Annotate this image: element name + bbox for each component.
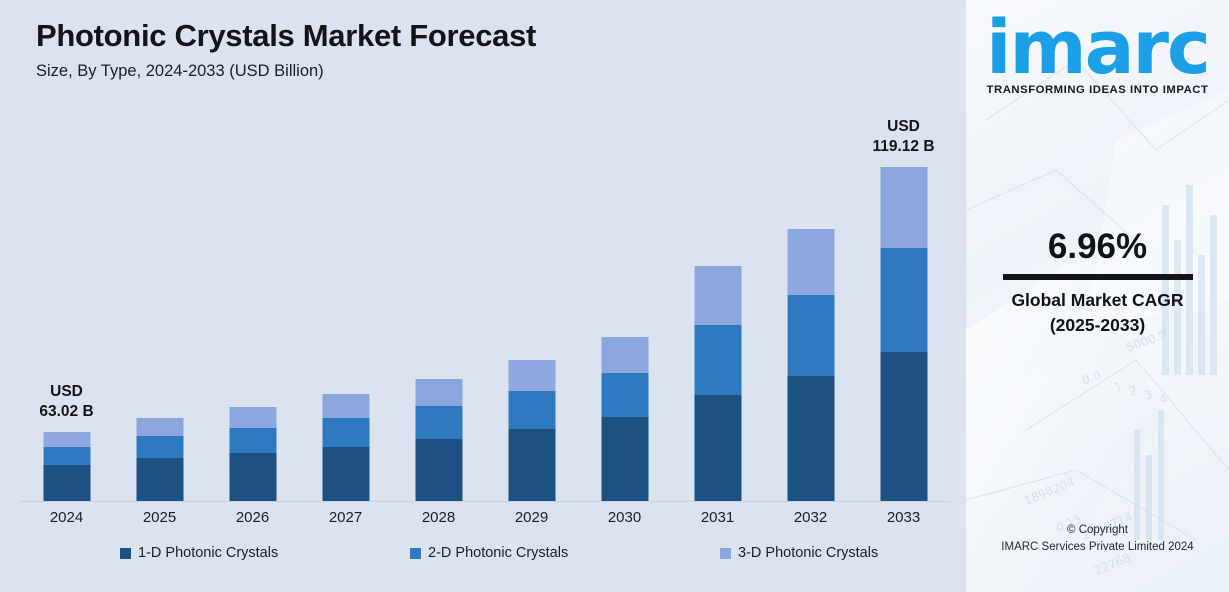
bar-segment-3d xyxy=(322,394,369,418)
bar-column xyxy=(113,120,206,501)
chart-panel: Photonic Crystals Market Forecast Size, … xyxy=(0,0,966,592)
imarc-wordmark: imarc xyxy=(986,14,1209,82)
bar-segment-2d xyxy=(43,447,90,465)
bar-value-label: USD63.02 B xyxy=(39,382,93,422)
bar-value-label-line1: USD xyxy=(872,117,934,137)
bar-value-label: USD119.12 B xyxy=(872,117,934,157)
bar-segment-2d xyxy=(601,373,648,417)
x-axis-tick-2031: 2031 xyxy=(671,509,764,526)
legend-label: 1-D Photonic Crystals xyxy=(138,545,278,561)
x-axis-tick-2025: 2025 xyxy=(113,509,206,526)
bar-segment-3d xyxy=(508,360,555,391)
copyright-block: © Copyright IMARC Services Private Limit… xyxy=(966,522,1229,557)
bar-segment-1d xyxy=(229,453,276,501)
bar-column xyxy=(578,120,671,501)
bar-column xyxy=(392,120,485,501)
x-axis-tick-2033: 2033 xyxy=(857,509,950,526)
bar-segment-3d xyxy=(601,337,648,373)
x-axis-tick-2024: 2024 xyxy=(20,509,113,526)
bar-segment-1d xyxy=(787,376,834,501)
cagr-caption-line1: Global Market CAGR xyxy=(966,288,1229,313)
bar-column xyxy=(485,120,578,501)
x-axis-tick-2028: 2028 xyxy=(392,509,485,526)
bar-column xyxy=(671,120,764,501)
copyright-line1: © Copyright xyxy=(966,522,1229,539)
bar-segment-3d xyxy=(136,418,183,436)
bar-column xyxy=(764,120,857,501)
chart-page: Photonic Crystals Market Forecast Size, … xyxy=(0,0,1229,592)
bar-stack xyxy=(43,432,90,501)
legend-item[interactable]: 3-D Photonic Crystals xyxy=(720,545,878,561)
bar-value-label-line1: USD xyxy=(39,382,93,402)
cagr-value: 6.96% xyxy=(966,228,1229,267)
bar-column: USD63.02 B xyxy=(20,120,113,501)
cagr-caption-line2: (2025-2033) xyxy=(966,313,1229,338)
legend-label: 2-D Photonic Crystals xyxy=(428,545,568,561)
bar-segment-3d xyxy=(694,266,741,325)
bar-value-label-line2: 119.12 B xyxy=(872,137,934,157)
bar-segment-1d xyxy=(880,352,927,501)
x-axis-tick-2026: 2026 xyxy=(206,509,299,526)
bar-stack xyxy=(694,266,741,501)
imarc-logo: imarc TRANSFORMING IDEAS INTO IMPACT xyxy=(966,14,1229,96)
brand-panel: 0.0 1 2 3 4 5000.0 0.15 2780714 1898204 … xyxy=(966,0,1229,592)
bar-column xyxy=(299,120,392,501)
x-axis-labels: 2024202520262027202820292030203120322033 xyxy=(20,509,950,533)
bar-stack xyxy=(880,167,927,501)
x-axis-tick-2029: 2029 xyxy=(485,509,578,526)
bar-segment-2d xyxy=(787,295,834,376)
copyright-line2: IMARC Services Private Limited 2024 xyxy=(966,539,1229,556)
bar-segment-2d xyxy=(880,248,927,352)
bar-segment-3d xyxy=(229,407,276,428)
bar-segment-1d xyxy=(43,465,90,501)
bar-segment-2d xyxy=(229,428,276,453)
bar-stack xyxy=(322,394,369,501)
legend-swatch-icon xyxy=(410,548,421,559)
bar-segment-2d xyxy=(415,406,462,439)
bar-segment-1d xyxy=(601,417,648,501)
chart-legend: 1-D Photonic Crystals2-D Photonic Crysta… xyxy=(20,545,950,571)
bar-column: USD119.12 B xyxy=(857,120,950,501)
bar-value-label-line2: 63.02 B xyxy=(39,402,93,422)
bar-segment-1d xyxy=(694,395,741,501)
bar-stack xyxy=(601,337,648,501)
bars-container: USD63.02 BUSD119.12 B xyxy=(20,120,950,501)
cagr-block: 6.96% Global Market CAGR (2025-2033) xyxy=(966,228,1229,338)
bar-segment-2d xyxy=(322,418,369,447)
legend-label: 3-D Photonic Crystals xyxy=(738,545,878,561)
bar-segment-3d xyxy=(43,432,90,447)
bar-stack xyxy=(787,229,834,501)
bar-column xyxy=(206,120,299,501)
x-axis-tick-2030: 2030 xyxy=(578,509,671,526)
x-axis-tick-2032: 2032 xyxy=(764,509,857,526)
legend-item[interactable]: 2-D Photonic Crystals xyxy=(410,545,568,561)
legend-swatch-icon xyxy=(720,548,731,559)
bar-stack xyxy=(415,379,462,501)
bar-segment-3d xyxy=(787,229,834,295)
bar-segment-1d xyxy=(508,429,555,501)
cagr-underline xyxy=(1003,274,1193,280)
legend-item[interactable]: 1-D Photonic Crystals xyxy=(120,545,278,561)
bar-segment-2d xyxy=(508,391,555,429)
bar-segment-1d xyxy=(136,458,183,501)
x-axis-tick-2027: 2027 xyxy=(299,509,392,526)
svg-text:4: 4 xyxy=(1157,391,1169,407)
x-axis-line xyxy=(20,501,950,502)
bar-stack xyxy=(508,360,555,501)
bar-segment-3d xyxy=(415,379,462,406)
bar-stack xyxy=(136,418,183,501)
bar-segment-1d xyxy=(322,447,369,501)
bar-segment-3d xyxy=(880,167,927,248)
bar-segment-2d xyxy=(136,436,183,458)
bar-stack xyxy=(229,407,276,501)
plot-area: USD63.02 BUSD119.12 B 202420252026202720… xyxy=(0,0,966,592)
legend-swatch-icon xyxy=(120,548,131,559)
bar-segment-1d xyxy=(415,439,462,501)
bar-segment-2d xyxy=(694,325,741,395)
